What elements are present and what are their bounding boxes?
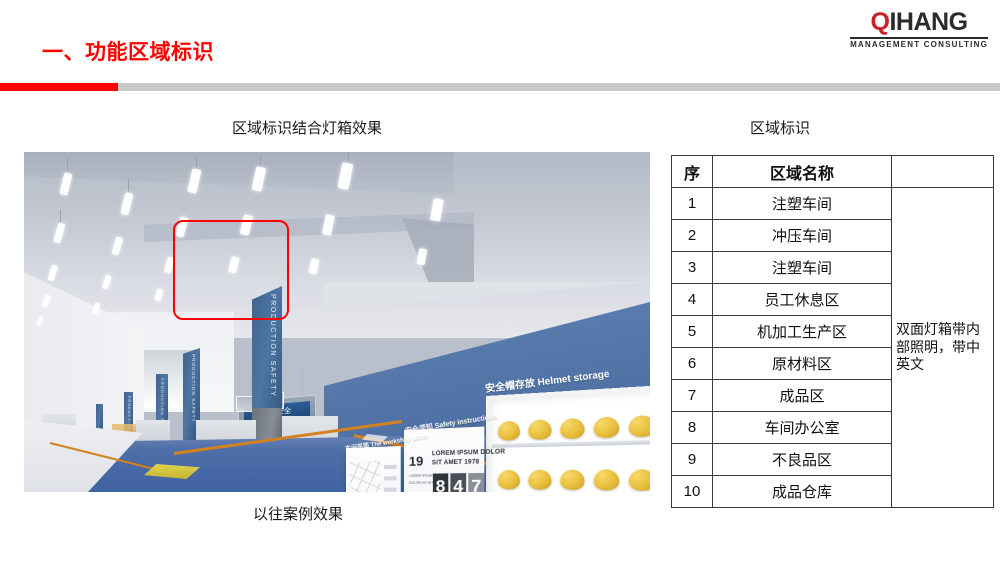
helmet-shelf (492, 439, 650, 447)
row-area-name: 机加工生产区 (713, 316, 892, 348)
row-area-name: 注塑车间 (713, 188, 892, 220)
panel-stat-number: 19 (409, 453, 423, 468)
light-stem (348, 152, 349, 162)
table-body: 1 注塑车间 双面灯箱带内部照明，带中英文 2 冲压车间 3 注塑车间 4 员工… (672, 188, 994, 508)
area-signage-table: 序 区域名称 1 注塑车间 双面灯箱带内部照明，带中英文 2 冲压车间 3 注塑… (671, 155, 994, 508)
table-head: 序 区域名称 (672, 156, 994, 188)
row-area-name: 不良品区 (713, 444, 892, 476)
plane-diagram (350, 461, 380, 492)
panel-digit-2: 4 (450, 473, 466, 492)
panel-workshop-plane (346, 446, 401, 492)
row-index: 10 (672, 476, 713, 508)
caption-photo-bottom: 以往案例效果 (253, 503, 343, 524)
row-index: 7 (672, 380, 713, 412)
logo-tagline: MANAGEMENT CONSULTING (850, 41, 988, 49)
helmet (528, 470, 551, 490)
logo-underline (850, 37, 988, 39)
helmet (498, 421, 520, 441)
helmet (629, 469, 650, 490)
helmet (594, 416, 620, 438)
helmet (594, 469, 620, 490)
plane-legend (384, 465, 396, 492)
row-index: 6 (672, 348, 713, 380)
row-area-name: 注塑车间 (713, 252, 892, 284)
logo-wordmark: QIHANG (850, 10, 988, 35)
light-stem (260, 154, 261, 166)
panel-digit-1: 8 (433, 473, 448, 492)
header-divider-red-segment (0, 83, 118, 91)
helmet-storage-niche (486, 384, 650, 492)
helmet (560, 470, 584, 490)
row-area-name: 车间办公室 (713, 412, 892, 444)
row-index: 4 (672, 284, 713, 316)
table-header-name: 区域名称 (713, 156, 892, 188)
header-divider (0, 83, 1000, 91)
panel-digit-3: 7 (468, 473, 484, 492)
helmet (528, 419, 551, 440)
light-stem (60, 210, 61, 222)
row-area-name: 成品区 (713, 380, 892, 412)
table-header-note (892, 156, 994, 188)
logo-letter-q: Q (871, 8, 890, 36)
light-stem (128, 178, 129, 192)
helmet (629, 415, 650, 437)
factory-photo: 生产安全 PRODUCTION SAFETY PRODUCTION SAFETY… (24, 152, 650, 492)
caption-photo-top: 区域标识结合灯箱效果 (232, 117, 382, 138)
helmet (498, 470, 520, 489)
panel-headline-line2: SIT AMET 1978 (432, 459, 480, 466)
row-area-name: 员工休息区 (713, 284, 892, 316)
light-stem (196, 156, 197, 168)
header-divider-gray-segment (118, 83, 1000, 91)
light-stem (67, 158, 68, 172)
table-header-row: 序 区域名称 (672, 156, 994, 188)
signbox-stem-right (302, 368, 303, 398)
helmet (560, 418, 584, 439)
row-index: 8 (672, 412, 713, 444)
panel-sub-line1: LOREM IPSUM (409, 474, 433, 479)
logo-letters-rest: IHANG (889, 8, 967, 36)
row-index: 1 (672, 188, 713, 220)
caption-table-top: 区域标识 (750, 117, 810, 138)
row-area-name: 成品仓库 (713, 476, 892, 508)
column-sign-text: PRODUCTION SAFETY (269, 294, 276, 397)
row-index: 3 (672, 252, 713, 284)
brand-logo: QIHANG MANAGEMENT CONSULTING (850, 10, 988, 49)
column-sign-text: PRODUCTION SAFETY (191, 354, 196, 423)
table-note-cell: 双面灯箱带内部照明，带中英文 (892, 188, 994, 508)
table-row: 1 注塑车间 双面灯箱带内部照明，带中英文 (672, 188, 994, 220)
row-area-name: 原材料区 (713, 348, 892, 380)
table-header-index: 序 (672, 156, 713, 188)
row-index: 5 (672, 316, 713, 348)
page-title: 一、功能区域标识 (42, 36, 214, 66)
row-area-name: 冲压车间 (713, 220, 892, 252)
row-index: 2 (672, 220, 713, 252)
row-index: 9 (672, 444, 713, 476)
